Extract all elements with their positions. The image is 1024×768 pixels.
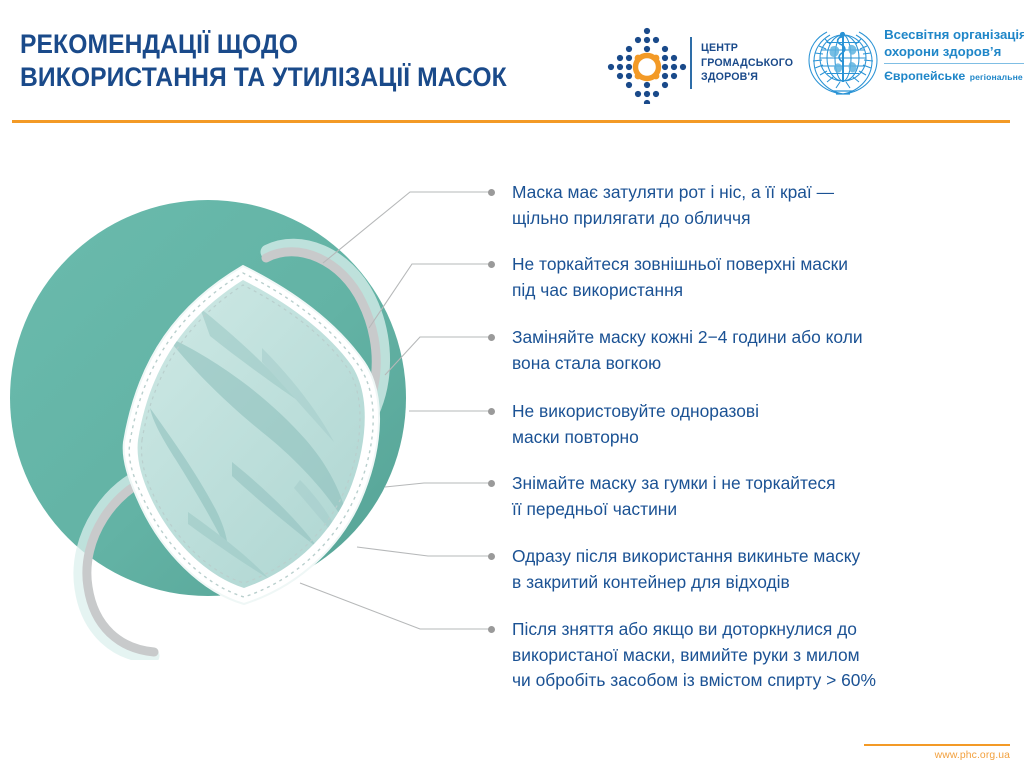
who-emblem-icon — [806, 24, 880, 98]
bullet-cover-mouth-nose: Маска має затуляти рот і ніс, а її краї … — [512, 180, 834, 231]
who-sub-europe: Європейське — [884, 69, 965, 83]
bullet-dot-icon — [488, 189, 495, 196]
cph-text-line-3: ЗДОРОВ'Я — [701, 70, 793, 85]
cph-text-line-2: ГРОМАДСЬКОГО — [701, 56, 793, 71]
logo-center-public-health: ЦЕНТР ГРОМАДСЬКОГО ЗДОРОВ'Я — [604, 22, 798, 104]
footer-divider — [864, 744, 1010, 746]
bullet-dot-icon — [488, 334, 495, 341]
bullet-discard-closed-container: Одразу після використання викиньте маску… — [512, 544, 860, 595]
list-item: Знімайте маску за гумки і не торкайтеся … — [488, 471, 836, 522]
page-title-line-1: РЕКОМЕНДАЦІЇ ЩОДО — [20, 28, 550, 61]
cph-logo-text: ЦЕНТР ГРОМАДСЬКОГО ЗДОРОВ'Я — [701, 41, 793, 85]
bullet-replace-every-2-4-hours: Заміняйте маску кожні 2−4 години або кол… — [512, 325, 863, 376]
bullet-remove-by-straps: Знімайте маску за гумки і не торкайтеся … — [512, 471, 836, 522]
who-text-line-2: охорони здоров’я — [884, 43, 1024, 60]
infographic-page: РЕКОМЕНДАЦІЇ ЩОДО ВИКОРИСТАННЯ ТА УТИЛІЗ… — [0, 0, 1024, 768]
logo-group: ЦЕНТР ГРОМАДСЬКОГО ЗДОРОВ'Я — [604, 22, 1020, 106]
footer-website-url[interactable]: www.phc.org.ua — [864, 750, 1010, 761]
header-divider — [12, 120, 1010, 123]
list-item: Не торкайтеся зовнішньої поверхні маски … — [488, 252, 848, 303]
cph-text-line-1: ЦЕНТР — [701, 41, 793, 56]
list-item: Не використовуйте одноразові маски повто… — [488, 399, 759, 450]
bullet-dot-icon — [488, 480, 495, 487]
logo-divider — [690, 37, 692, 89]
list-item: Заміняйте маску кожні 2−4 години або кол… — [488, 325, 863, 376]
header: РЕКОМЕНДАЦІЇ ЩОДО ВИКОРИСТАННЯ ТА УТИЛІЗ… — [0, 0, 1024, 122]
bullet-dot-icon — [488, 626, 495, 633]
bullet-dont-touch-outer-surface: Не торкайтеся зовнішньої поверхні маски … — [512, 252, 848, 303]
list-item: Одразу після використання викиньте маску… — [488, 544, 860, 595]
who-text-line-1: Всесвітня організація — [884, 26, 1024, 43]
bullet-dont-reuse-disposable: Не використовуйте одноразові маски повто… — [512, 399, 759, 450]
list-item: Після зняття або якщо ви доторкнулися до… — [488, 617, 876, 694]
bullet-dot-icon — [488, 553, 495, 560]
bullet-dot-icon — [488, 408, 495, 415]
cph-dot-diamond-icon — [604, 22, 690, 104]
bullet-wash-hands-after: Після зняття або якщо ви доторкнулися до… — [512, 617, 876, 694]
who-regional-office-text: Європейське регіональне бюро — [884, 67, 1024, 85]
page-title-line-2: ВИКОРИСТАННЯ ТА УТИЛІЗАЦІЇ МАСОК — [20, 61, 550, 94]
surgical-mask-illustration — [0, 140, 480, 660]
who-logo-text: Всесвітня організація охорони здоров’я Є… — [884, 22, 1024, 85]
logo-who-europe: Всесвітня організація охорони здоров’я Є… — [806, 22, 1020, 104]
who-sub-regional-office: регіональне бюро — [970, 72, 1024, 82]
bullet-dot-icon — [488, 261, 495, 268]
who-text-rule — [884, 63, 1024, 64]
list-item: Маска має затуляти рот і ніс, а її краї … — [488, 180, 834, 231]
page-title: РЕКОМЕНДАЦІЇ ЩОДО ВИКОРИСТАННЯ ТА УТИЛІЗ… — [20, 28, 550, 94]
